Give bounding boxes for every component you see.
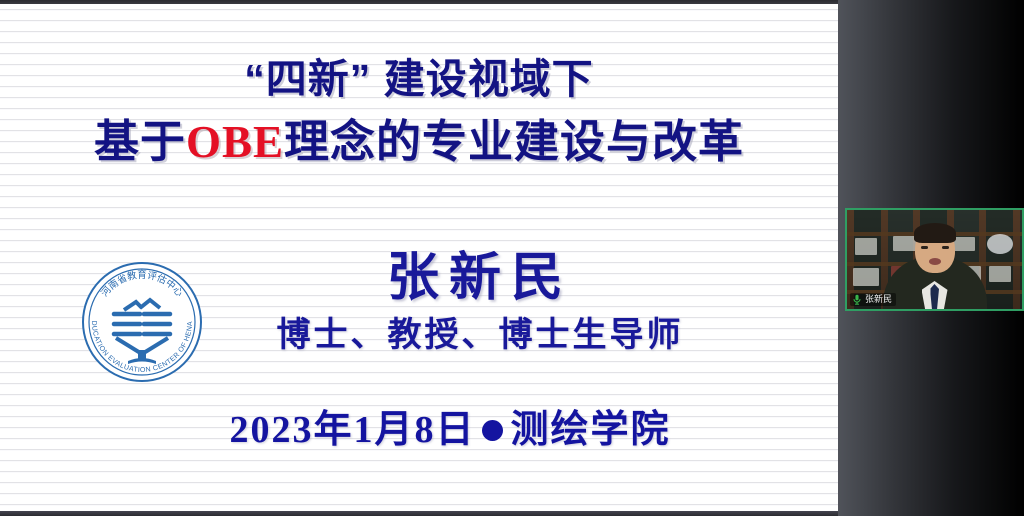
presenter-name: 张新民 [200,248,760,310]
slide-title-obe-highlight: OBE [186,117,284,167]
slide-footer-organization: 测绘学院 [511,409,671,451]
participant-video-rail: 张新民 [838,0,1024,516]
slide-title-block: “四新” 建设视域下 基于OBE理念的专业建设与改革 [0,52,838,172]
slide-title-line-2-prefix: 基于 [94,116,186,167]
slide-content: “四新” 建设视域下 基于OBE理念的专业建设与改革 [0,0,838,516]
participant-video-tile[interactable]: 张新民 [845,208,1024,311]
slide-footer-date: 2023年1月8日 [229,409,475,451]
participant-mouth [929,258,941,265]
bullet-dot-icon [482,420,503,441]
presenter-credentials: 博士、教授、博士生导师 [200,312,760,360]
participant-eye-left [921,246,928,249]
screen-share-view: “四新” 建设视域下 基于OBE理念的专业建设与改革 [0,0,1024,516]
slide-title-line-1: “四新” 建设视域下 [0,52,838,106]
shared-slide[interactable]: “四新” 建设视域下 基于OBE理念的专业建设与改革 [0,0,838,516]
slide-title-line-2-suffix: 理念的专业建设与改革 [284,116,744,167]
participant-eye-right [942,246,949,249]
participant-name-badge: 张新民 [850,293,896,306]
presenter-block: 张新民 博士、教授、博士生导师 [200,248,760,360]
seal-icon: 河南省教育评估中心 EDUCATION EVALUATION CENTER OF… [78,258,206,386]
participant-hair [914,223,956,243]
institution-logo: 河南省教育评估中心 EDUCATION EVALUATION CENTER OF… [78,258,206,386]
slide-footer-line: 2023年1月8日测绘学院 [180,398,720,453]
slide-title-line-2: 基于OBE理念的专业建设与改革 [0,112,838,172]
participant-name-label: 张新民 [865,294,892,305]
microphone-icon [852,294,862,305]
